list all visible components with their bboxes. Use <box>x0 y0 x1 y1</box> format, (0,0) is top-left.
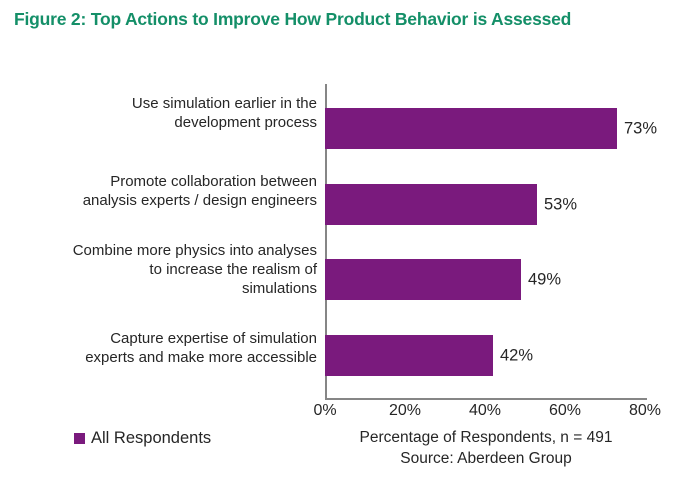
category-axis-labels: Use simulation earlier in the developmen… <box>0 86 325 400</box>
bar-all-respondents-3[interactable] <box>325 335 493 376</box>
category-label-3-line-0: Capture expertise of simulation <box>5 329 317 348</box>
plot-area: 73% 53% 49% 42% <box>325 86 645 400</box>
bar-all-respondents-1[interactable] <box>325 184 537 225</box>
bar-chart: Use simulation earlier in the developmen… <box>0 82 686 412</box>
bar-row: 42% <box>325 335 645 376</box>
category-label-2-line-1: to increase the realism of <box>5 260 317 279</box>
chart-legend: All Respondents <box>74 429 211 447</box>
category-label-1: Promote collaboration between analysis e… <box>5 172 325 210</box>
category-label-0: Use simulation earlier in the developmen… <box>5 94 325 132</box>
tick-label-4: 80% <box>629 402 661 420</box>
bar-all-respondents-0[interactable] <box>325 108 617 149</box>
category-label-3: Capture expertise of simulation experts … <box>5 329 325 367</box>
figure-title: Figure 2: Top Actions to Improve How Pro… <box>14 6 654 32</box>
tick-label-0: 0% <box>313 402 336 420</box>
category-label-3-line-1: experts and make more accessible <box>5 348 317 367</box>
axis-caption: Percentage of Respondents, n = 491 <box>325 427 647 448</box>
category-label-0-line-1: development process <box>5 113 317 132</box>
category-label-1-line-1: analysis experts / design engineers <box>5 191 317 210</box>
bar-value-label-0: 73% <box>617 119 657 138</box>
square-swatch-icon <box>74 433 85 444</box>
tick-label-2: 40% <box>469 402 501 420</box>
bar-value-label-2: 49% <box>521 270 561 289</box>
bar-row: 53% <box>325 184 645 225</box>
bar-row: 49% <box>325 259 645 300</box>
bar-all-respondents-2[interactable] <box>325 259 521 300</box>
category-label-2: Combine more physics into analyses to in… <box>5 241 325 298</box>
tick-label-1: 20% <box>389 402 421 420</box>
category-label-0-line-0: Use simulation earlier in the <box>5 94 317 113</box>
tick-label-3: 60% <box>549 402 581 420</box>
bar-value-label-3: 42% <box>493 346 533 365</box>
category-label-2-line-0: Combine more physics into analyses <box>5 241 317 260</box>
category-label-1-line-0: Promote collaboration between <box>5 172 317 191</box>
bar-row: 73% <box>325 108 645 149</box>
source-caption: Source: Aberdeen Group <box>325 448 647 469</box>
value-axis-tick-labels: 0% 20% 40% 60% 80% <box>0 402 686 424</box>
category-label-2-line-2: simulations <box>5 279 317 298</box>
legend-item-label[interactable]: All Respondents <box>91 429 211 447</box>
bar-value-label-1: 53% <box>537 195 577 214</box>
